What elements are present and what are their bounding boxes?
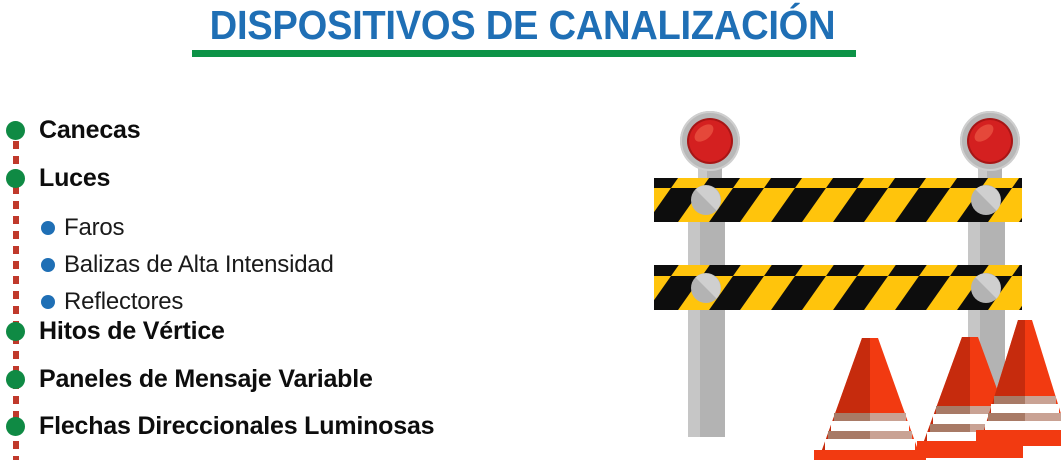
green-dot-bullet — [6, 370, 25, 389]
support-post-left — [688, 186, 725, 437]
outline-item-label: Flechas Direccionales Luminosas — [39, 412, 434, 441]
warning-lamp-right-icon — [960, 111, 1020, 171]
title-underline-rule — [192, 50, 856, 57]
outline-item-canecas[interactable]: Canecas — [6, 116, 140, 145]
green-dot-bullet — [6, 121, 25, 140]
outline-list: Canecas Luces Faros Balizas de Alta Inte… — [0, 104, 560, 460]
outline-item-label: Reflectores — [64, 288, 183, 316]
green-dot-bullet — [6, 417, 25, 436]
outline-item-label: Faros — [64, 214, 124, 242]
outline-item-faros[interactable]: Faros — [41, 214, 124, 242]
green-dot-bullet — [6, 169, 25, 188]
outline-item-label: Paneles de Mensaje Variable — [39, 365, 373, 394]
road-barricade-illustration — [640, 100, 1061, 460]
bolt-upper-right — [971, 185, 1001, 215]
outline-item-flechas-direccionales-luminosas[interactable]: Flechas Direccionales Luminosas — [6, 412, 434, 441]
outline-item-reflectores[interactable]: Reflectores — [41, 288, 183, 316]
outline-item-hitos-de-vertice[interactable]: Hitos de Vértice — [6, 317, 225, 346]
warning-lamp-left-icon — [680, 111, 740, 171]
outline-item-label: Hitos de Vértice — [39, 317, 225, 346]
blue-dot-bullet — [41, 295, 55, 309]
outline-item-label: Luces — [39, 164, 110, 193]
green-dot-bullet — [6, 322, 25, 341]
outline-item-label: Balizas de Alta Intensidad — [64, 251, 334, 279]
outline-item-balizas-de-alta-intensidad[interactable]: Balizas de Alta Intensidad — [41, 251, 334, 279]
outline-item-label: Canecas — [39, 116, 140, 145]
blue-dot-bullet — [41, 221, 55, 235]
outline-item-luces[interactable]: Luces — [6, 164, 110, 193]
page-title: DISPOSITIVOS DE CANALIZACIÓN — [37, 2, 1009, 48]
traffic-cone-left — [814, 338, 926, 460]
outline-item-paneles-de-mensaje-variable[interactable]: Paneles de Mensaje Variable — [6, 365, 373, 394]
slide-canvas: DISPOSITIVOS DE CANALIZACIÓN Canecas Luc… — [0, 0, 1061, 460]
bolt-lower-left — [691, 273, 721, 303]
bolt-upper-left — [691, 185, 721, 215]
blue-dot-bullet — [41, 258, 55, 272]
title-block: DISPOSITIVOS DE CANALIZACIÓN — [0, 2, 1045, 48]
bolt-lower-right — [971, 273, 1001, 303]
